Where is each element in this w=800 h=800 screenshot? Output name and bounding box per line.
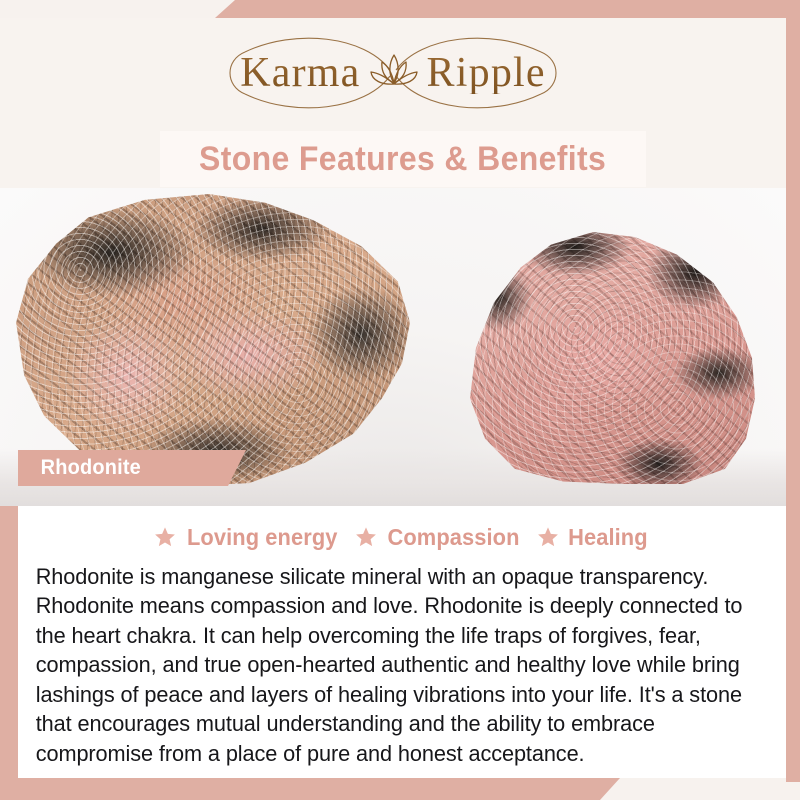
content-panel: Loving energy Compassion Healing Rhodoni… — [18, 506, 786, 778]
star-icon — [537, 526, 559, 548]
rhodonite-stone-right — [455, 232, 755, 484]
stone-name-text: Rhodonite — [41, 456, 141, 480]
infographic-card: Karma Ripple Stone Features & Benefits — [0, 0, 800, 800]
star-icon — [154, 526, 176, 548]
stone-name-badge: Rhodonite — [18, 450, 246, 486]
title-banner: Stone Features & Benefits — [160, 131, 646, 187]
feature-item-loving-energy: Loving energy — [154, 524, 342, 551]
star-icon — [355, 526, 377, 548]
stone-description: Rhodonite is manganese silicate mineral … — [28, 562, 750, 768]
feature-item-compassion: Compassion — [355, 524, 523, 551]
feature-label: Loving energy — [187, 524, 338, 551]
stone-sparkle-left — [8, 194, 410, 486]
stone-sparkle-right — [455, 232, 755, 484]
frame-band-top — [215, 0, 800, 18]
lotus-icon — [367, 50, 421, 96]
feature-item-healing: Healing — [537, 524, 650, 551]
frame-band-right — [786, 0, 800, 782]
feature-label: Compassion — [388, 524, 520, 551]
brand-word-left: Karma — [240, 52, 360, 94]
rhodonite-stone-left — [8, 194, 410, 486]
brand-logo: Karma Ripple — [0, 30, 786, 116]
frame-band-bottom — [0, 778, 620, 800]
feature-list: Loving energy Compassion Healing — [28, 518, 776, 556]
brand-word-right: Ripple — [427, 52, 546, 94]
page-title: Stone Features & Benefits — [199, 140, 606, 179]
feature-label: Healing — [568, 524, 648, 551]
